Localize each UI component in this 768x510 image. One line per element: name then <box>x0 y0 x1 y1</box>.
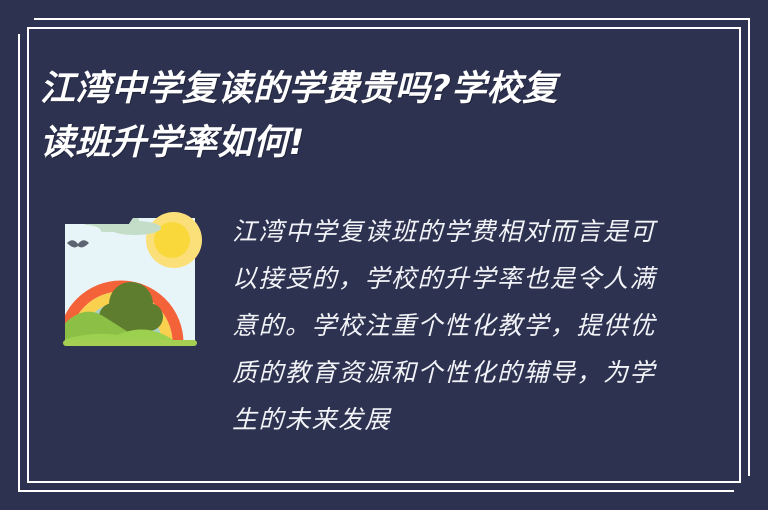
poster-title: 江湾中学复读的学费贵吗?学校复 读班升学率如何! <box>40 62 660 170</box>
poster-canvas: 江湾中学复读的学费贵吗?学校复 读班升学率如何! <box>0 0 768 510</box>
ground-strip <box>63 340 197 346</box>
poster-body-text: 江湾中学复读班的学费相对而言是可以接受的，学校的升学率也是令人满意的。学校注重个… <box>232 208 662 443</box>
rainbow-landscape-illustration <box>55 204 205 356</box>
frame-notch-bottom-right-vertical <box>746 476 752 510</box>
frame-notch-top-left-horizontal <box>0 16 34 22</box>
frame-notch-top-left-vertical <box>16 0 22 34</box>
frame-notch-bottom-right-horizontal <box>734 488 768 494</box>
